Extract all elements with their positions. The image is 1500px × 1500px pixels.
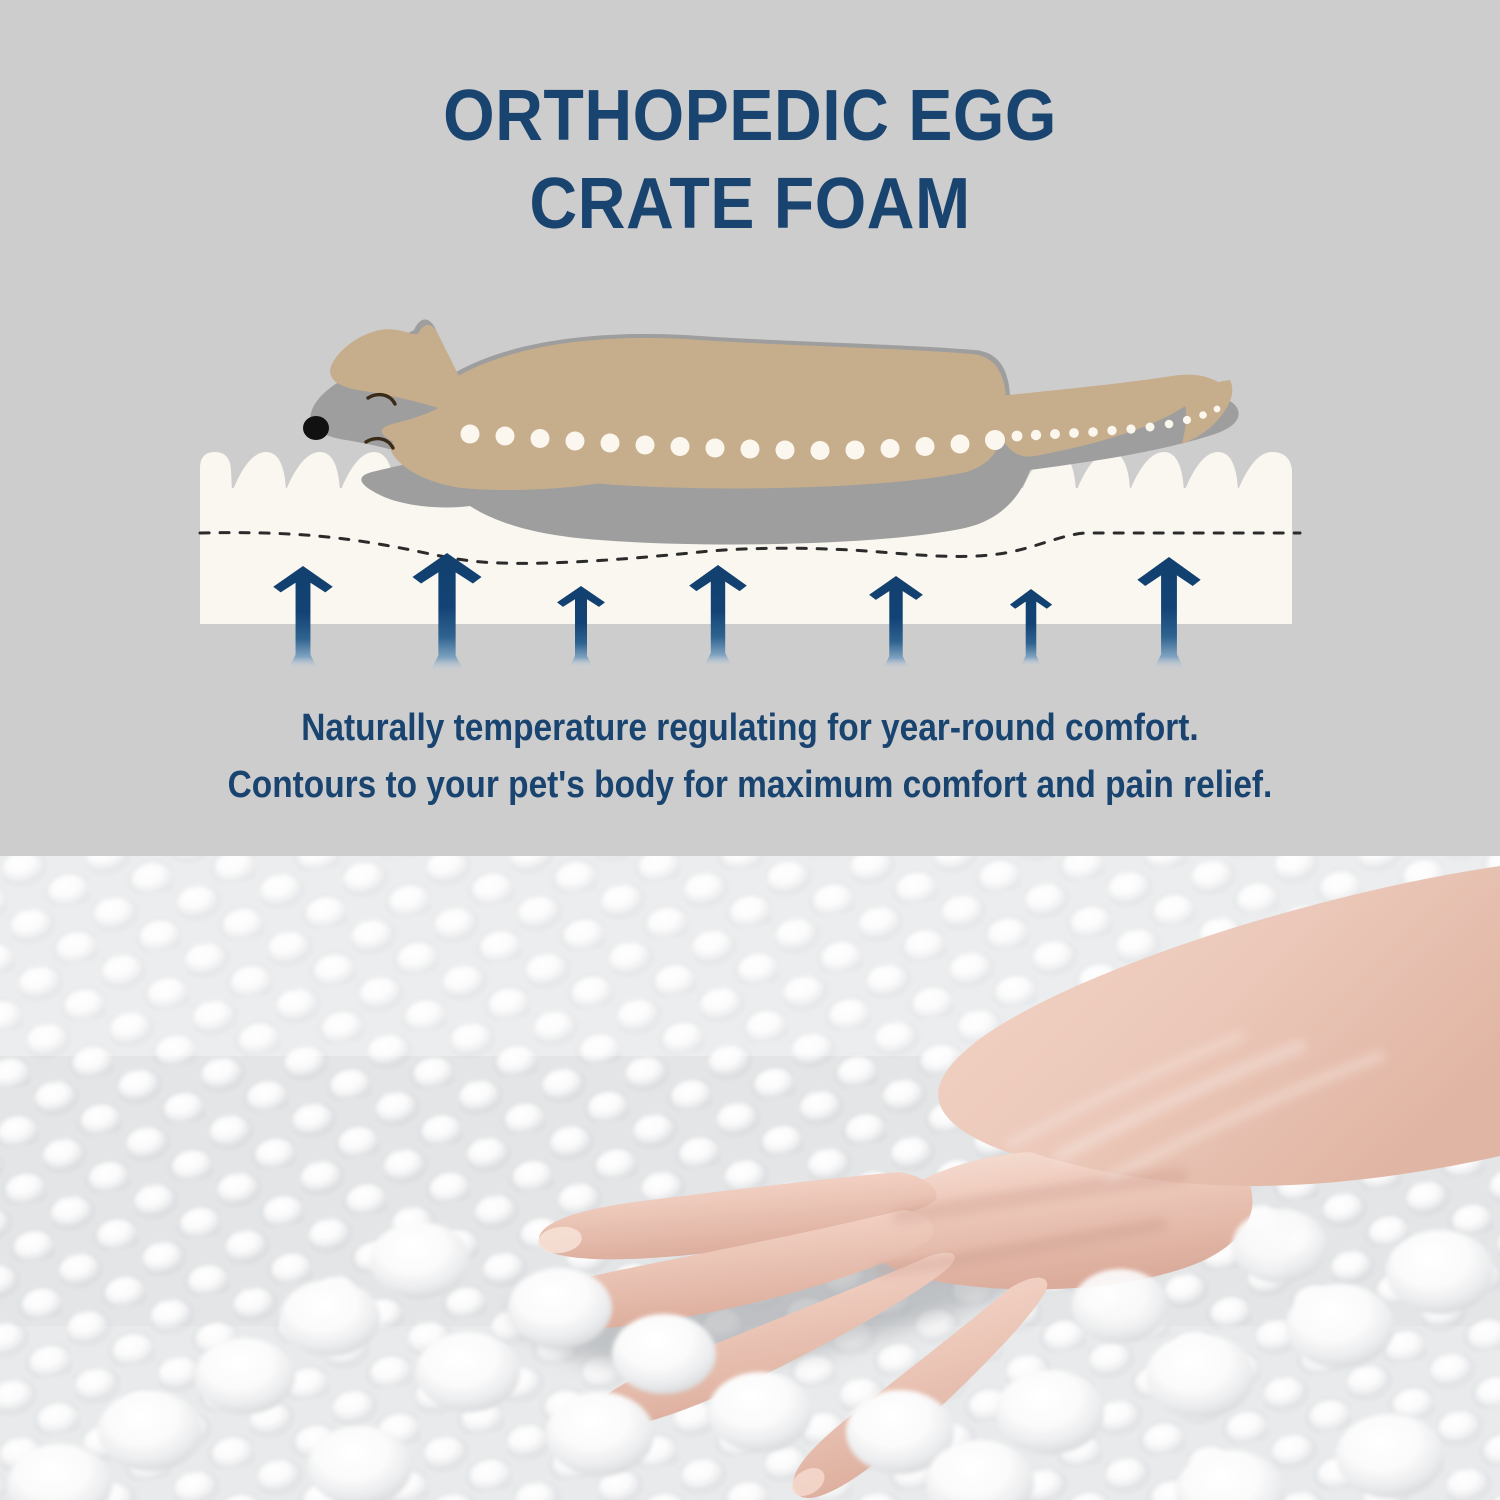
caption-line-1: Naturally temperature regulating for yea… [90, 700, 1410, 757]
egg-crate-foam-photo [0, 856, 1500, 1500]
product-feature-image: ORTHOPEDIC EGG CRATE FOAM Naturally temp… [0, 0, 1500, 1500]
dog-nose [303, 416, 329, 440]
support-arrow-3 [557, 586, 605, 667]
support-arrow-6 [1010, 589, 1052, 666]
feature-caption: Naturally temperature regulating for yea… [90, 700, 1410, 814]
page-title: ORTHOPEDIC EGG CRATE FOAM [60, 72, 1440, 248]
illustration-panel: ORTHOPEDIC EGG CRATE FOAM Naturally temp… [0, 0, 1500, 856]
foam-photo-panel [0, 856, 1500, 1500]
caption-line-2: Contours to your pet's body for maximum … [90, 757, 1410, 814]
